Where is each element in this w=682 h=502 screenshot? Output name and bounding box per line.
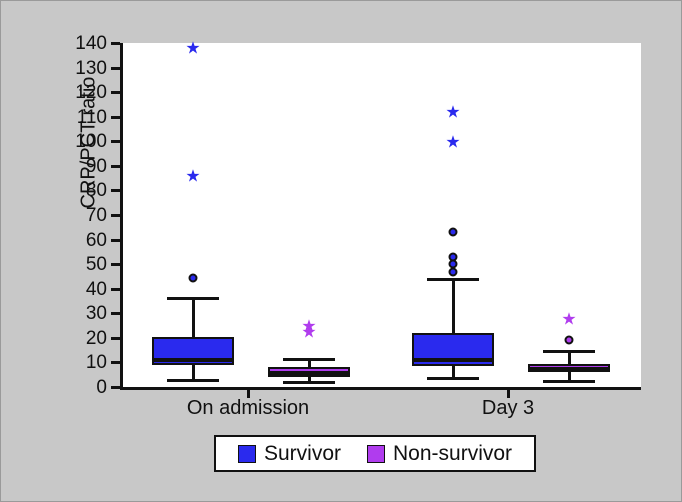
outlier-star: ★	[445, 134, 460, 151]
y-tick-label: 40	[86, 280, 107, 299]
whisker-cap-upper	[283, 358, 335, 361]
median-line	[152, 358, 234, 362]
y-tick-label: 100	[75, 132, 107, 151]
whisker-cap-lower	[543, 380, 595, 383]
y-tick-label: 140	[75, 34, 107, 53]
y-tick-mark	[111, 91, 120, 94]
outlier-circle	[189, 273, 198, 282]
x-tick-label: On admission	[187, 397, 309, 420]
outlier-circle	[565, 336, 574, 345]
legend-label-survivor: Survivor	[264, 442, 341, 466]
y-tick-label: 20	[86, 329, 107, 348]
plot-inner: ★★★★★★★	[123, 43, 641, 387]
y-tick-label: 80	[86, 181, 107, 200]
y-tick-label: 70	[86, 206, 107, 225]
outlier-circle	[449, 252, 458, 261]
y-tick-label: 0	[96, 378, 107, 397]
y-tick-mark	[111, 337, 120, 340]
outlier-star: ★	[185, 41, 200, 58]
outlier-star: ★	[185, 169, 200, 186]
median-line	[528, 367, 610, 371]
y-axis-tick-labels: 0102030405060708090100110120130140	[61, 29, 107, 389]
y-tick-label: 30	[86, 304, 107, 323]
y-tick-label: 50	[86, 255, 107, 274]
y-tick-label: 60	[86, 231, 107, 250]
legend: Survivor Non-survivor	[214, 435, 536, 472]
x-tick-label: Day 3	[482, 397, 534, 420]
y-tick-mark	[111, 214, 120, 217]
y-tick-mark	[111, 312, 120, 315]
y-tick-label: 90	[86, 157, 107, 176]
whisker-cap-upper	[167, 297, 219, 300]
y-tick-mark	[111, 189, 120, 192]
y-tick-mark	[111, 42, 120, 45]
y-tick-mark	[111, 140, 120, 143]
legend-entry-survivor[interactable]: Survivor	[238, 442, 341, 466]
outlier-star: ★	[445, 105, 460, 122]
y-tick-mark	[111, 239, 120, 242]
median-line	[268, 371, 350, 375]
legend-swatch-survivor	[238, 445, 256, 463]
y-tick-label: 120	[75, 83, 107, 102]
legend-entry-nonsurvivor[interactable]: Non-survivor	[367, 442, 512, 466]
whisker-cap-upper	[427, 278, 479, 281]
median-line	[412, 358, 494, 362]
plot-area: ★★★★★★★	[120, 43, 641, 390]
whisker-cap-upper	[543, 350, 595, 353]
whisker-cap-lower	[167, 379, 219, 382]
y-tick-mark	[111, 165, 120, 168]
y-tick-mark	[111, 288, 120, 291]
y-tick-label: 110	[77, 108, 107, 127]
outlier-star: ★	[561, 311, 576, 328]
legend-label-nonsurvivor: Non-survivor	[393, 442, 512, 466]
whisker-lower	[192, 365, 195, 380]
whisker-cap-lower	[427, 377, 479, 380]
y-tick-label: 10	[86, 353, 107, 372]
outlier-star: ★	[301, 319, 316, 336]
y-tick-mark	[111, 67, 120, 70]
whisker-cap-lower	[283, 381, 335, 384]
whisker-upper	[192, 297, 195, 336]
legend-swatch-nonsurvivor	[367, 445, 385, 463]
y-tick-mark	[111, 116, 120, 119]
boxplot-figure: CRP/PCT ratio 01020304050607080901001101…	[0, 0, 682, 502]
outlier-circle	[449, 228, 458, 237]
y-tick-label: 130	[75, 59, 107, 78]
y-tick-mark	[111, 361, 120, 364]
whisker-upper	[452, 278, 455, 333]
y-tick-mark	[111, 386, 120, 389]
y-tick-mark	[111, 263, 120, 266]
